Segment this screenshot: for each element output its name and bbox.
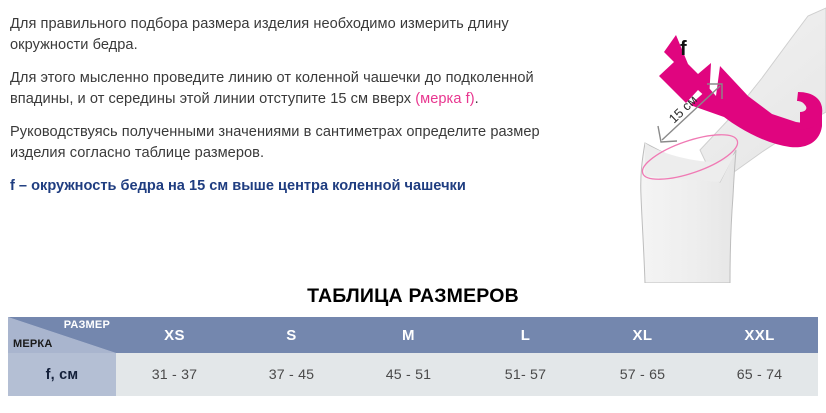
legend-text: – окружность бедра на 15 см выше центра … — [15, 178, 466, 194]
row-label-f-cm: f, см — [8, 353, 116, 396]
figure-f-label: f — [680, 38, 687, 60]
cell-f-s: 37 - 45 — [233, 353, 350, 396]
instruction-paragraph-2: Для этого мысленно проведите линию от ко… — [10, 68, 550, 109]
column-header-xxl: XXL — [701, 317, 818, 353]
instruction-paragraph-3: Руководствуясь полученными значениями в … — [10, 122, 550, 163]
pink-measure-note-period: . — [475, 91, 479, 107]
size-guide-page: Для правильного подбора размера изделия … — [0, 0, 826, 413]
cell-f-l: 51- 57 — [467, 353, 584, 396]
cell-f-xxl: 65 - 74 — [701, 353, 818, 396]
table-header-row: РАЗМЕР МЕРКА XS S M L XL XXL — [8, 317, 818, 353]
lower-leg-shape — [641, 143, 736, 283]
measure-15cm-dimension: 15 см — [658, 84, 722, 142]
instructions-block: Для правильного подбора размера изделия … — [10, 14, 550, 196]
column-header-s: S — [233, 317, 350, 353]
table-title: ТАБЛИЦА РАЗМЕРОВ — [0, 285, 826, 308]
cell-f-m: 45 - 51 — [350, 353, 467, 396]
size-table: РАЗМЕР МЕРКА XS S M L XL XXL f, см 31 - … — [8, 317, 818, 396]
column-header-xl: XL — [584, 317, 701, 353]
corner-measure-label: МЕРКА — [13, 338, 53, 350]
column-header-m: M — [350, 317, 467, 353]
column-header-l: L — [467, 317, 584, 353]
cell-f-xs: 31 - 37 — [116, 353, 233, 396]
table-row: f, см 31 - 37 37 - 45 45 - 51 51- 57 57 … — [8, 353, 818, 396]
pink-measure-note: (мерка f) — [415, 91, 474, 107]
instruction-paragraph-1: Для правильного подбора размера изделия … — [10, 14, 550, 55]
leg-diagram: 15 см f — [612, 0, 826, 283]
cell-f-xl: 57 - 65 — [584, 353, 701, 396]
legend-line: f – окружность бедра на 15 см выше центр… — [10, 176, 550, 196]
column-header-xs: XS — [116, 317, 233, 353]
table-corner-cell: РАЗМЕР МЕРКА — [8, 317, 116, 353]
corner-size-label: РАЗМЕР — [64, 319, 110, 331]
